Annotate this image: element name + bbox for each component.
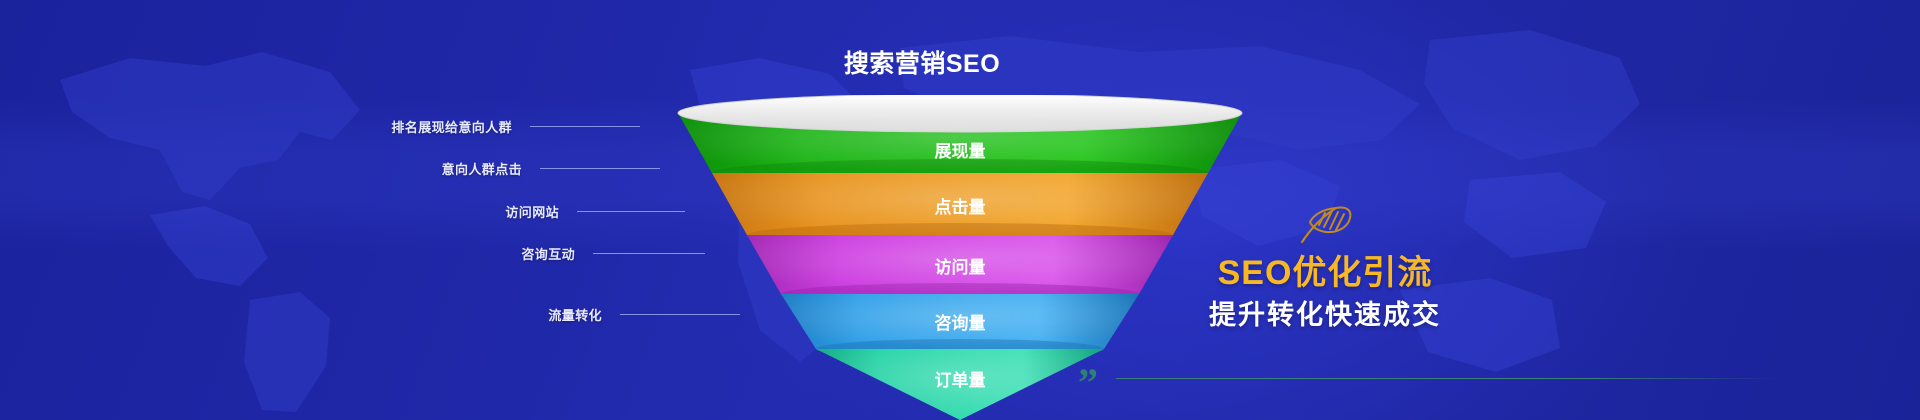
stage-label-row-1: 排名展现给意向人群 (310, 118, 640, 134)
stage-label-row-3: 访问网站 (400, 203, 685, 219)
promo-subheadline: 提升转化快速成交 (1160, 299, 1490, 331)
leaf-icon (1294, 200, 1356, 246)
funnel-stage-label-5: 订单量 (935, 370, 986, 390)
funnel-stage-label-1: 展现量 (935, 141, 986, 161)
stage-label-text-5: 流量转化 (548, 305, 602, 324)
funnel-title: 搜索营销SEO (712, 44, 1132, 80)
connector-line-2 (540, 168, 660, 169)
quote-divider-line (1116, 378, 1778, 379)
quote-row: ” (1078, 378, 1778, 379)
promo-block: SEO优化引流 提升转化快速成交 (1160, 200, 1490, 331)
stage-label-text-1: 排名展现给意向人群 (391, 117, 512, 136)
stage-label-text-4: 咨询互动 (521, 244, 575, 263)
connector-line-1 (530, 126, 640, 127)
funnel-stage-label-3: 访问量 (935, 257, 986, 277)
funnel-stage-5: 订单量 (816, 349, 1104, 420)
promo-headline: SEO优化引流 (1160, 254, 1490, 293)
funnel-stage-label-2: 点击量 (935, 197, 986, 217)
stage-label-text-2: 意向人群点击 (442, 159, 522, 178)
funnel-stage-label-4: 咨询量 (935, 313, 986, 333)
stage-label-row-2: 意向人群点击 (360, 160, 660, 176)
stage-label-text-3: 访问网站 (505, 202, 559, 221)
seo-funnel-banner: 搜索营销SEO 排名展现给意向人群 意向人群点击 访问网站 咨询互动 流量转化 (0, 0, 1920, 420)
